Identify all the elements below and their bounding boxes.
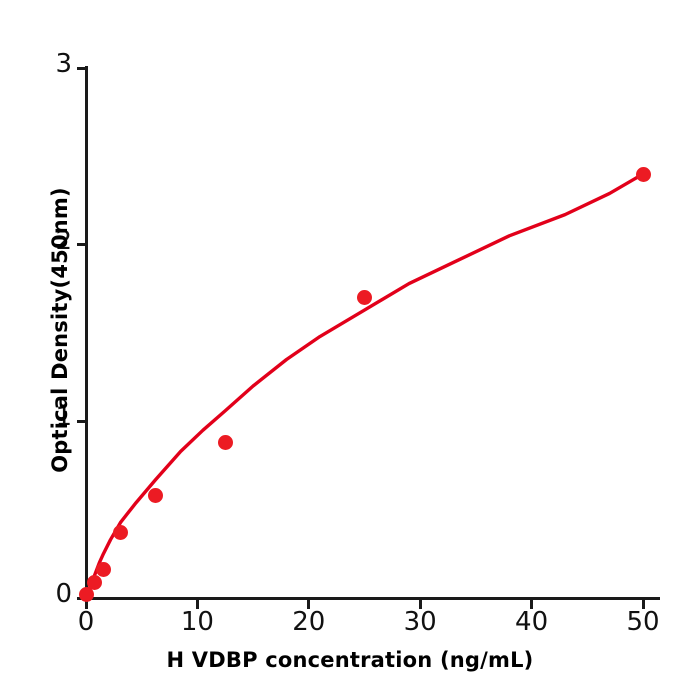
y-tick-2 xyxy=(77,243,86,246)
y-axis-title: Optical Density(450nm) xyxy=(48,65,72,595)
fit-curve xyxy=(0,0,700,700)
data-point xyxy=(148,488,163,503)
data-point xyxy=(87,575,102,590)
y-tick-3 xyxy=(77,67,86,70)
y-tick-1 xyxy=(77,420,86,423)
chart-canvas: 0123 01020304050 H VDBP concentration (n… xyxy=(0,0,700,700)
data-point xyxy=(636,167,651,182)
x-tick-label-40: 40 xyxy=(502,609,562,635)
data-point xyxy=(218,435,233,450)
x-axis-line xyxy=(85,597,660,600)
x-tick-label-20: 20 xyxy=(279,609,339,635)
data-point xyxy=(113,525,128,540)
x-tick-label-0: 0 xyxy=(56,609,116,635)
data-point xyxy=(357,290,372,305)
x-tick-label-30: 30 xyxy=(390,609,450,635)
x-tick-label-10: 10 xyxy=(167,609,227,635)
y-axis-line xyxy=(85,66,88,600)
x-tick-label-50: 50 xyxy=(613,609,673,635)
x-axis-title: H VDBP concentration (ng/mL) xyxy=(0,648,700,672)
data-point xyxy=(96,562,111,577)
